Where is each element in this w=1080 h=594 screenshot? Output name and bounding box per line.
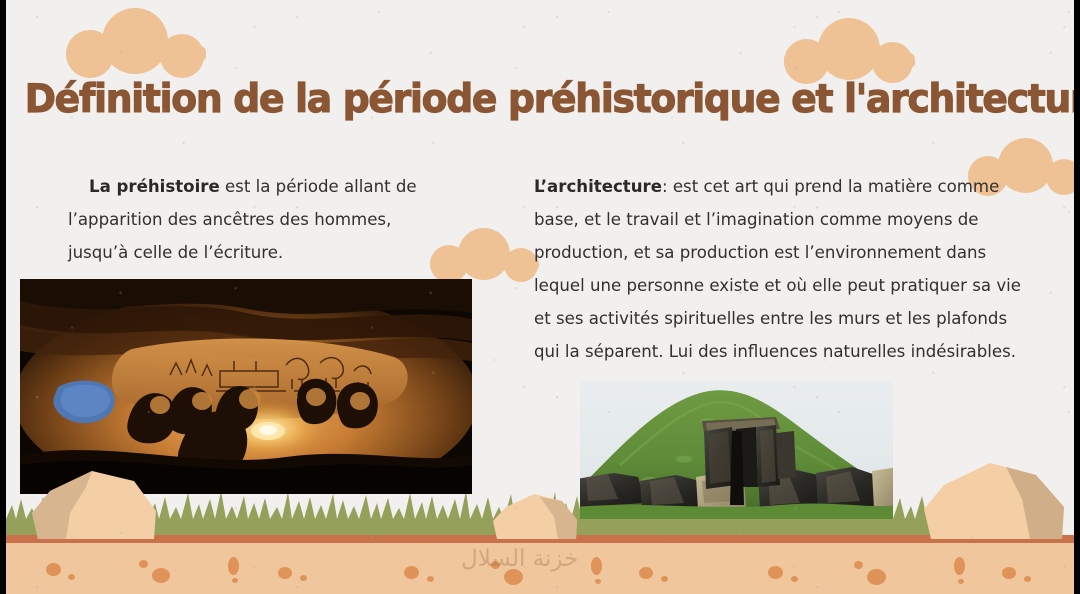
rock-bottom-center xyxy=(492,491,580,539)
right-lead-term: L’architecture xyxy=(534,177,662,196)
left-lead-term: La préhistoire xyxy=(89,177,220,196)
right-body-text: : est cet art qui prend la matière comme… xyxy=(534,177,1021,361)
right-paragraph: L’architecture: est cet art qui prend la… xyxy=(534,170,1024,368)
cloud-top-right-decoration xyxy=(784,18,915,67)
rock-bottom-left xyxy=(30,467,162,539)
megalithic-tomb-photo xyxy=(580,381,893,519)
watermark-text: خزنة السلال xyxy=(461,546,578,572)
right-text-column: L’architecture: est cet art qui prend la… xyxy=(534,170,1024,368)
prehistoric-cave-painting-photo xyxy=(20,279,472,494)
slide-canvas: Définition de la période préhistorique e… xyxy=(6,0,1074,594)
left-paragraph: La préhistoire est la période allant de … xyxy=(68,170,448,269)
rock-bottom-right xyxy=(922,459,1070,539)
left-text-column: La préhistoire est la période allant de … xyxy=(68,170,448,269)
cloud-top-left-decoration xyxy=(66,8,206,60)
page-title: Définition de la période préhistorique e… xyxy=(25,77,1056,122)
